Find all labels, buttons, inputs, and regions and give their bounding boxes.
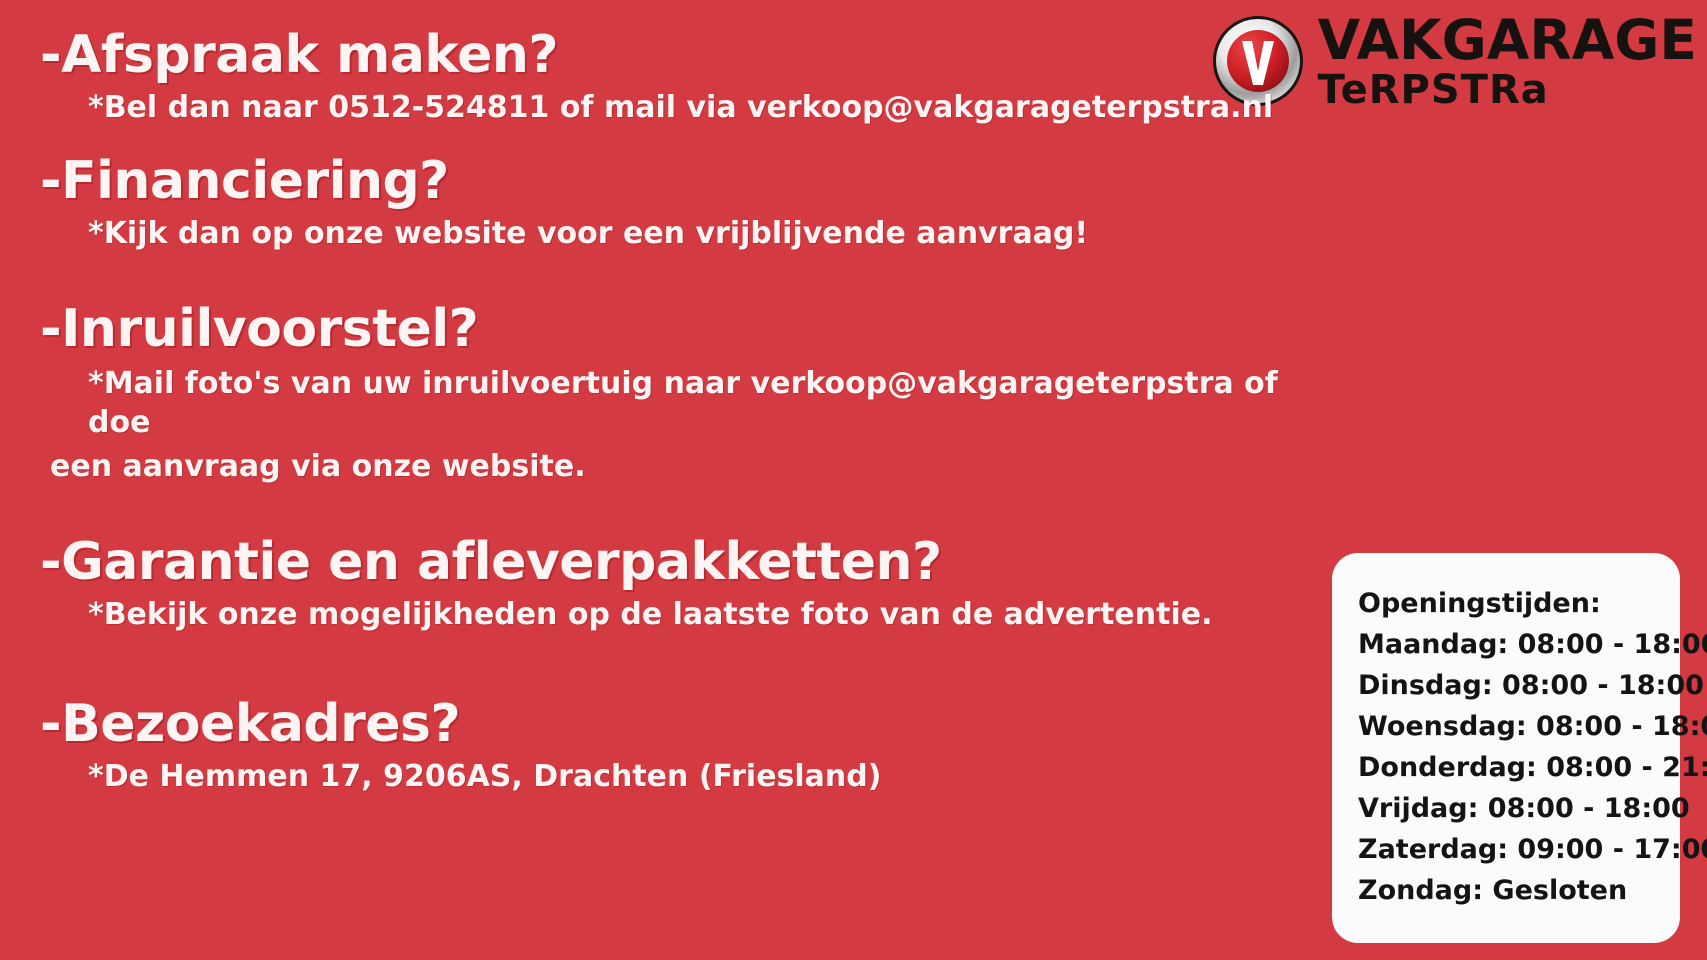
- section-financiering: -Financiering? *Kijk dan op onze website…: [40, 152, 1300, 254]
- opening-hours-row-tuesday: Dinsdag: 08:00 - 18:00: [1358, 665, 1680, 706]
- section-subline: *De Hemmen 17, 9206AS, Drachten (Friesla…: [88, 757, 1300, 797]
- section-inruilvoorstel: -Inruilvoorstel? *Mail foto's van uw inr…: [40, 300, 1300, 487]
- section-garantie: -Garantie en afleverpakketten? *Bekijk o…: [40, 533, 1300, 635]
- section-bezoekadres: -Bezoekadres? *De Hemmen 17, 9206AS, Dra…: [40, 695, 1300, 797]
- opening-hours-row-wednesday: Woensdag: 08:00 - 18:00: [1358, 706, 1680, 747]
- opening-hours-row-monday: Maandag: 08:00 - 18:00: [1358, 624, 1680, 665]
- poster-canvas: VAKGARAGE TeRPSTRa -Afspraak maken? *Bel…: [0, 0, 1707, 960]
- brand-wordmark: VAKGARAGE TeRPSTRa: [1318, 12, 1697, 111]
- section-afspraak: -Afspraak maken? *Bel dan naar 0512-5248…: [40, 26, 1300, 128]
- opening-hours-row-sunday: Zondag: Gesloten: [1358, 870, 1680, 911]
- opening-hours-row-saturday: Zaterdag: 09:00 - 17:00: [1358, 829, 1680, 870]
- section-subline: *Bel dan naar 0512-524811 of mail via ve…: [88, 88, 1300, 128]
- opening-hours-row-friday: Vrijdag: 08:00 - 18:00: [1358, 788, 1680, 829]
- opening-hours-card: Openingstijden: Maandag: 08:00 - 18:00 D…: [1332, 553, 1680, 943]
- section-heading: -Bezoekadres?: [40, 695, 1300, 753]
- section-heading: -Financiering?: [40, 152, 1300, 210]
- section-heading: -Inruilvoorstel?: [40, 300, 1300, 358]
- section-subline: *Kijk dan op onze website voor een vrijb…: [88, 214, 1300, 254]
- section-subline-continued: een aanvraag via onze website.: [50, 447, 1300, 487]
- brand-location: TeRPSTRa: [1318, 70, 1697, 111]
- section-heading: -Afspraak maken?: [40, 26, 1300, 84]
- opening-hours-title: Openingstijden:: [1358, 583, 1680, 624]
- section-subline: *Bekijk onze mogelijkheden op de laatste…: [88, 595, 1300, 635]
- content-column: -Afspraak maken? *Bel dan naar 0512-5248…: [40, 26, 1300, 820]
- opening-hours-row-thursday: Donderdag: 08:00 - 21:00: [1358, 747, 1680, 788]
- section-subline: *Mail foto's van uw inruilvoertuig naar …: [88, 364, 1300, 443]
- brand-name: VAKGARAGE: [1318, 14, 1697, 68]
- section-heading: -Garantie en afleverpakketten?: [40, 533, 1300, 591]
